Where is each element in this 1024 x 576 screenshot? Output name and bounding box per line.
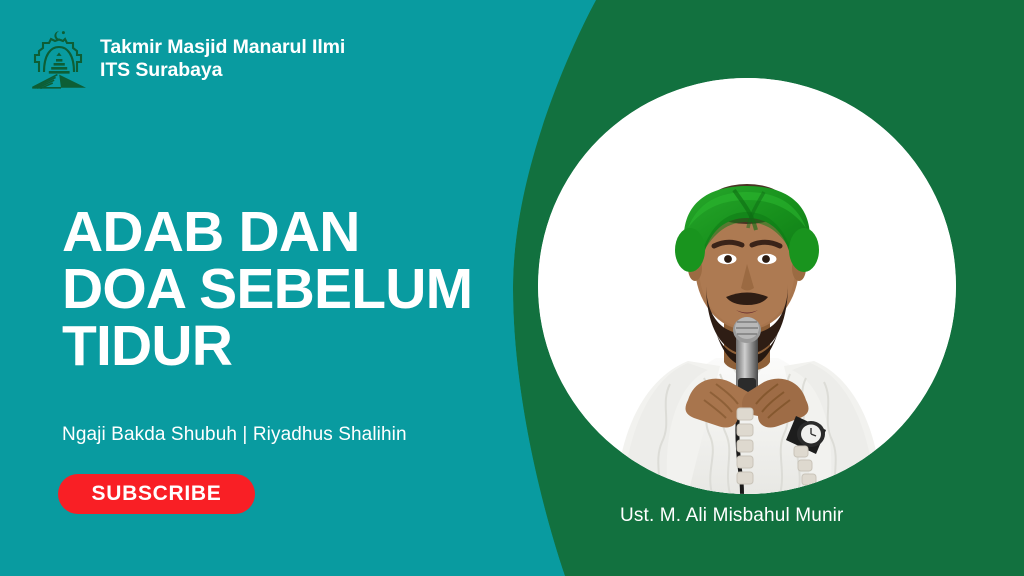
speaker-portrait-photo xyxy=(538,78,956,494)
page-title: ADAB DAN DOA SEBELUM TIDUR xyxy=(62,204,532,375)
thumbnail-canvas: Takmir Masjid Manarul Ilmi ITS Surabaya … xyxy=(0,0,1024,576)
left-content-column: ADAB DAN DOA SEBELUM TIDUR Ngaji Bakda S… xyxy=(62,0,532,576)
speaker-name: Ust. M. Ali Misbahul Munir xyxy=(620,505,844,527)
subscribe-button[interactable]: SUBSCRIBE xyxy=(58,474,255,514)
headline-line-1: ADAB DAN xyxy=(62,204,532,261)
subtitle: Ngaji Bakda Shubuh | Riyadhus Shalihin xyxy=(62,424,407,446)
headline-line-2: DOA SEBELUM xyxy=(62,261,532,318)
headline-line-3: TIDUR xyxy=(62,318,532,375)
